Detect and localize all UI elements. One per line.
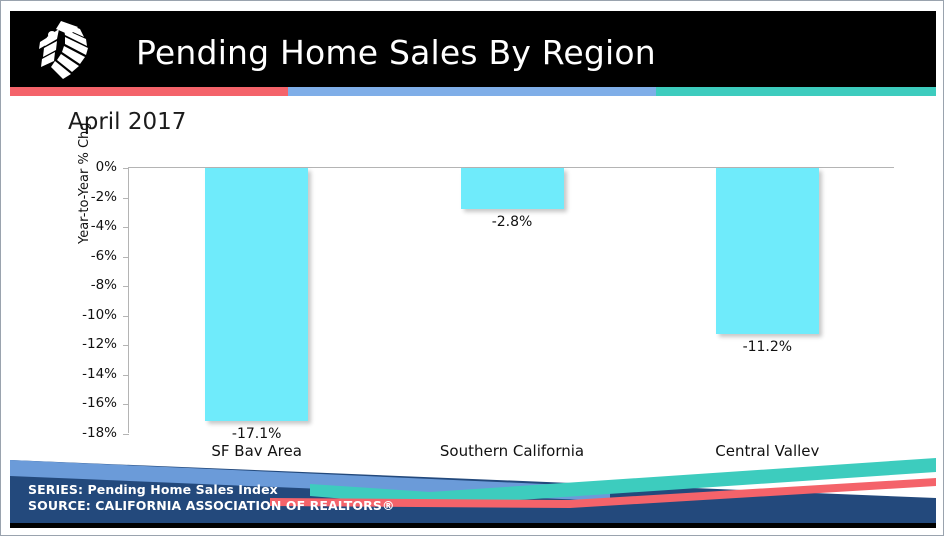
y-axis-tick-label: -14% xyxy=(82,366,117,382)
footer-source-label: SOURCE: CALIFORNIA ASSOCIATION OF REALTO… xyxy=(28,498,395,514)
footer-series-label: SERIES: Pending Home Sales Index xyxy=(28,482,395,498)
header-bar: Pending Home Sales By Region xyxy=(10,11,936,87)
y-axis-tick-label: -10% xyxy=(82,307,117,323)
bar-value-label: -11.2% xyxy=(707,339,827,355)
bar-value-label: -2.8% xyxy=(452,214,572,230)
y-axis-title: Year-to-Year % Chg. xyxy=(77,44,92,244)
footer-text-block: SERIES: Pending Home Sales Index SOURCE:… xyxy=(28,482,395,514)
y-axis-tick-label: -6% xyxy=(91,248,117,264)
y-axis-tick-label: -18% xyxy=(82,425,117,441)
y-axis-tick-label: -2% xyxy=(91,189,117,205)
y-axis-tick-label: 0% xyxy=(96,159,117,175)
footer-ribbon: SERIES: Pending Home Sales Index SOURCE:… xyxy=(10,456,936,528)
y-axis-tick-label: -12% xyxy=(82,336,117,352)
y-axis-tick-label: -16% xyxy=(82,395,117,411)
header-color-stripe xyxy=(10,87,936,96)
stripe-segment-blue xyxy=(288,87,631,96)
slide-canvas: Pending Home Sales By Region April 2017 … xyxy=(0,0,944,536)
chart-panel: April 2017 Year-to-Year % Chg. 0%-2%-4%-… xyxy=(10,96,936,462)
bar xyxy=(205,168,308,421)
stripe-segment-blue-2 xyxy=(630,87,656,96)
stripe-segment-red xyxy=(10,87,288,96)
bar xyxy=(716,168,819,334)
page-title: Pending Home Sales By Region xyxy=(136,33,656,72)
stripe-segment-teal xyxy=(656,87,936,96)
y-axis-tick-label: -4% xyxy=(91,218,117,234)
bar xyxy=(461,168,564,209)
plot-area: Year-to-Year % Chg. 0%-2%-4%-6%-8%-10%-1… xyxy=(128,167,894,433)
y-axis-tick-label: -8% xyxy=(91,277,117,293)
ribbon-band-black xyxy=(10,523,936,528)
bar-value-label: -17.1% xyxy=(197,426,317,442)
